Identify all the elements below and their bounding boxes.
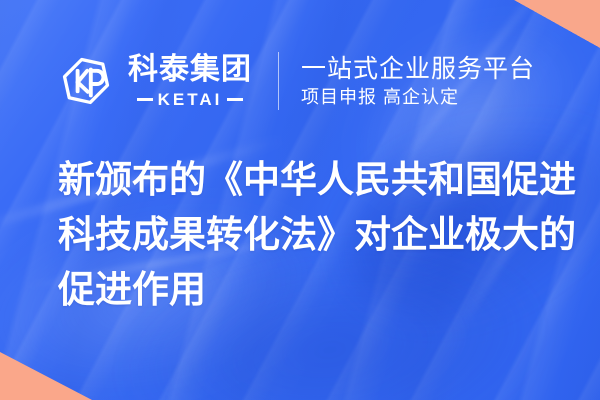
brand-wordmark: 科泰集团 KETAI (128, 55, 252, 108)
banner-header: 科泰集团 KETAI 一站式企业服务平台 项目申报 高企认定 (56, 46, 535, 116)
headline-line-1: 新颁布的《中华人民共和国促进 (58, 152, 558, 207)
tagline-main: 一站式企业服务平台 (301, 55, 535, 83)
headline: 新颁布的《中华人民共和国促进 科技成果转化法》对企业极大的 促进作用 (58, 152, 558, 317)
brand-name-cn: 科泰集团 (128, 55, 252, 85)
ketai-diamond-kp-monogram-icon (56, 51, 116, 111)
brand-logo[interactable]: 科泰集团 KETAI (56, 51, 252, 111)
dash-right-icon (227, 98, 243, 101)
tagline-block: 一站式企业服务平台 项目申报 高企认定 (301, 55, 535, 108)
dash-left-icon (137, 98, 153, 101)
headline-line-2: 科技成果转化法》对企业极大的 (58, 207, 558, 262)
promo-banner: 科泰集团 KETAI 一站式企业服务平台 项目申报 高企认定 新颁布的《中华人民… (0, 0, 600, 400)
header-divider (278, 52, 279, 110)
headline-line-3: 促进作用 (58, 262, 558, 317)
brand-name-en: KETAI (158, 91, 223, 108)
tagline-sub: 项目申报 高企认定 (301, 88, 535, 108)
brand-name-en-row: KETAI (137, 91, 244, 108)
